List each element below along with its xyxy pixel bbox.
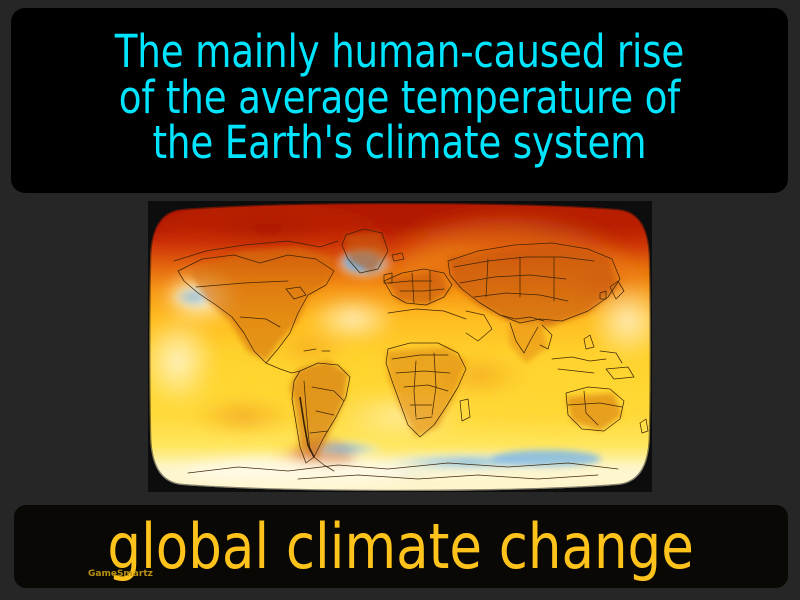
flashcard-page: The mainly human-caused rise of the aver… [0, 0, 800, 600]
term-panel: global climate change [14, 505, 788, 588]
definition-panel: The mainly human-caused rise of the aver… [11, 8, 788, 193]
map-body [148, 201, 652, 492]
definition-text: The mainly human-caused rise of the aver… [115, 29, 684, 167]
global-temperature-anomaly-map [148, 201, 652, 492]
term-text: global climate change [108, 516, 694, 578]
